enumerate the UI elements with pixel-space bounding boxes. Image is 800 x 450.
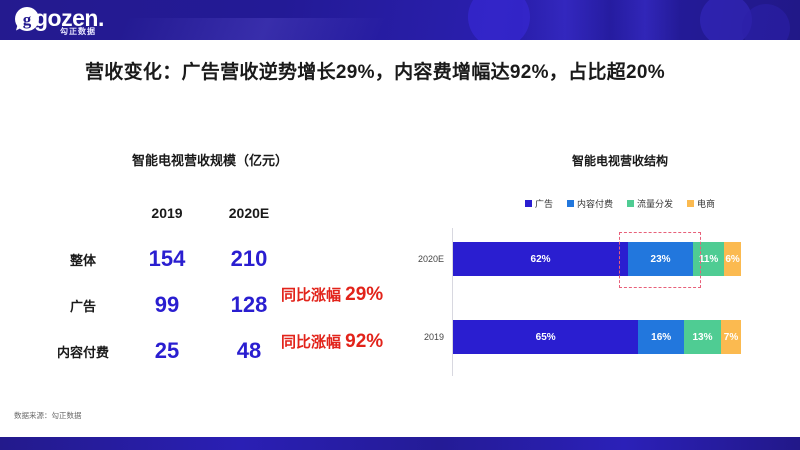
growth-label-advertising: 同比涨幅	[281, 287, 345, 304]
table-header-blank	[40, 190, 126, 236]
legend-swatch-advertising	[525, 200, 532, 207]
bar-segment-traffic-distribution-2020e[interactable]: 11%	[693, 242, 724, 276]
legend-item-traffic-distribution[interactable]: 流量分发	[627, 197, 673, 210]
chart-title: 智能电视营收结构	[460, 152, 780, 169]
legend-label-ecommerce: 电商	[697, 197, 715, 210]
banner-shine-decoration	[114, 18, 386, 40]
legend-item-paid-content[interactable]: 内容付费	[567, 197, 613, 210]
table-header-2020e: 2020E	[208, 190, 290, 236]
slide-title: 营收变化：广告营收逆势增长29%，内容费增幅达92%，占比超20%	[85, 57, 765, 84]
cell-overall-2020e: 210	[208, 236, 290, 282]
bar-segment-advertising-2020e[interactable]: 62%	[453, 242, 628, 276]
legend-item-advertising[interactable]: 广告	[525, 197, 553, 210]
row-label-paid-content: 内容付费	[40, 328, 126, 374]
row-label-advertising: 广告	[40, 282, 126, 328]
legend-swatch-ecommerce	[687, 200, 694, 207]
legend-label-traffic-distribution: 流量分发	[637, 197, 673, 210]
legend-label-advertising: 广告	[535, 197, 553, 210]
revenue-table-title: 智能电视营收规模（亿元）	[60, 150, 360, 169]
legend-item-ecommerce[interactable]: 电商	[687, 197, 715, 210]
brand-logo-subtext: 勾正数据	[60, 26, 96, 37]
row-label-overall: 整体	[40, 236, 126, 282]
bar-segment-paid-content-2020e[interactable]: 23%	[628, 242, 693, 276]
banner-circle-decoration-1	[468, 0, 530, 40]
category-label-2020e: 2020E	[418, 242, 444, 276]
growth-value-paid-content: 92%	[345, 331, 383, 352]
banner-band-decoration-2	[610, 0, 680, 40]
cell-paid-content-2020e: 48	[208, 328, 290, 374]
top-banner: g gozen. 勾正数据	[0, 0, 800, 40]
source-note: 数据来源：勾正数据	[14, 410, 82, 421]
legend-label-paid-content: 内容付费	[577, 197, 613, 210]
bar-segment-ecommerce-2020e[interactable]: 6%	[724, 242, 741, 276]
cell-advertising-2019: 99	[126, 282, 208, 328]
growth-label-paid-content: 同比涨幅	[281, 334, 345, 351]
growth-annotation-paid-content: 同比涨幅 92%	[281, 331, 383, 353]
banner-circle-decoration-3	[742, 4, 790, 40]
table-header-2019: 2019	[126, 190, 208, 236]
stacked-bar-chart-plot: 2020E 62% 23% 11% 6% 2019 65% 16% 13% 7%	[452, 228, 772, 376]
bar-segment-paid-content-2019[interactable]: 16%	[638, 320, 684, 354]
slide-canvas: g gozen. 勾正数据 营收变化：广告营收逆势增长29%，内容费增幅达92%…	[0, 0, 800, 450]
legend-swatch-paid-content	[567, 200, 574, 207]
cell-advertising-2020e: 128	[208, 282, 290, 328]
table-row: 内容付费 25 48	[40, 328, 290, 374]
table-row: 广告 99 128	[40, 282, 290, 328]
cell-paid-content-2019: 25	[126, 328, 208, 374]
bar-row-2019: 2019 65% 16% 13% 7%	[453, 320, 741, 354]
brand-logo[interactable]: g gozen. 勾正数据	[14, 4, 124, 38]
bar-segment-advertising-2019[interactable]: 65%	[453, 320, 638, 354]
table-row: 整体 154 210	[40, 236, 290, 282]
cell-overall-2019: 154	[126, 236, 208, 282]
bar-row-2020e: 2020E 62% 23% 11% 6%	[453, 242, 741, 276]
category-label-2019: 2019	[424, 320, 444, 354]
bar-segment-ecommerce-2019[interactable]: 7%	[721, 320, 741, 354]
table-header-row: 2019 2020E	[40, 190, 290, 236]
revenue-table: 2019 2020E 整体 154 210 广告 99 128 内容付费 25 …	[40, 190, 290, 374]
chart-legend: 广告 内容付费 流量分发 电商	[460, 197, 780, 210]
growth-value-advertising: 29%	[345, 284, 383, 305]
banner-band-decoration-1	[520, 0, 610, 40]
bottom-bar	[0, 437, 800, 450]
growth-annotation-advertising: 同比涨幅 29%	[281, 284, 383, 306]
legend-swatch-traffic-distribution	[627, 200, 634, 207]
bar-segment-traffic-distribution-2019[interactable]: 13%	[684, 320, 721, 354]
svg-text:g: g	[23, 10, 32, 29]
